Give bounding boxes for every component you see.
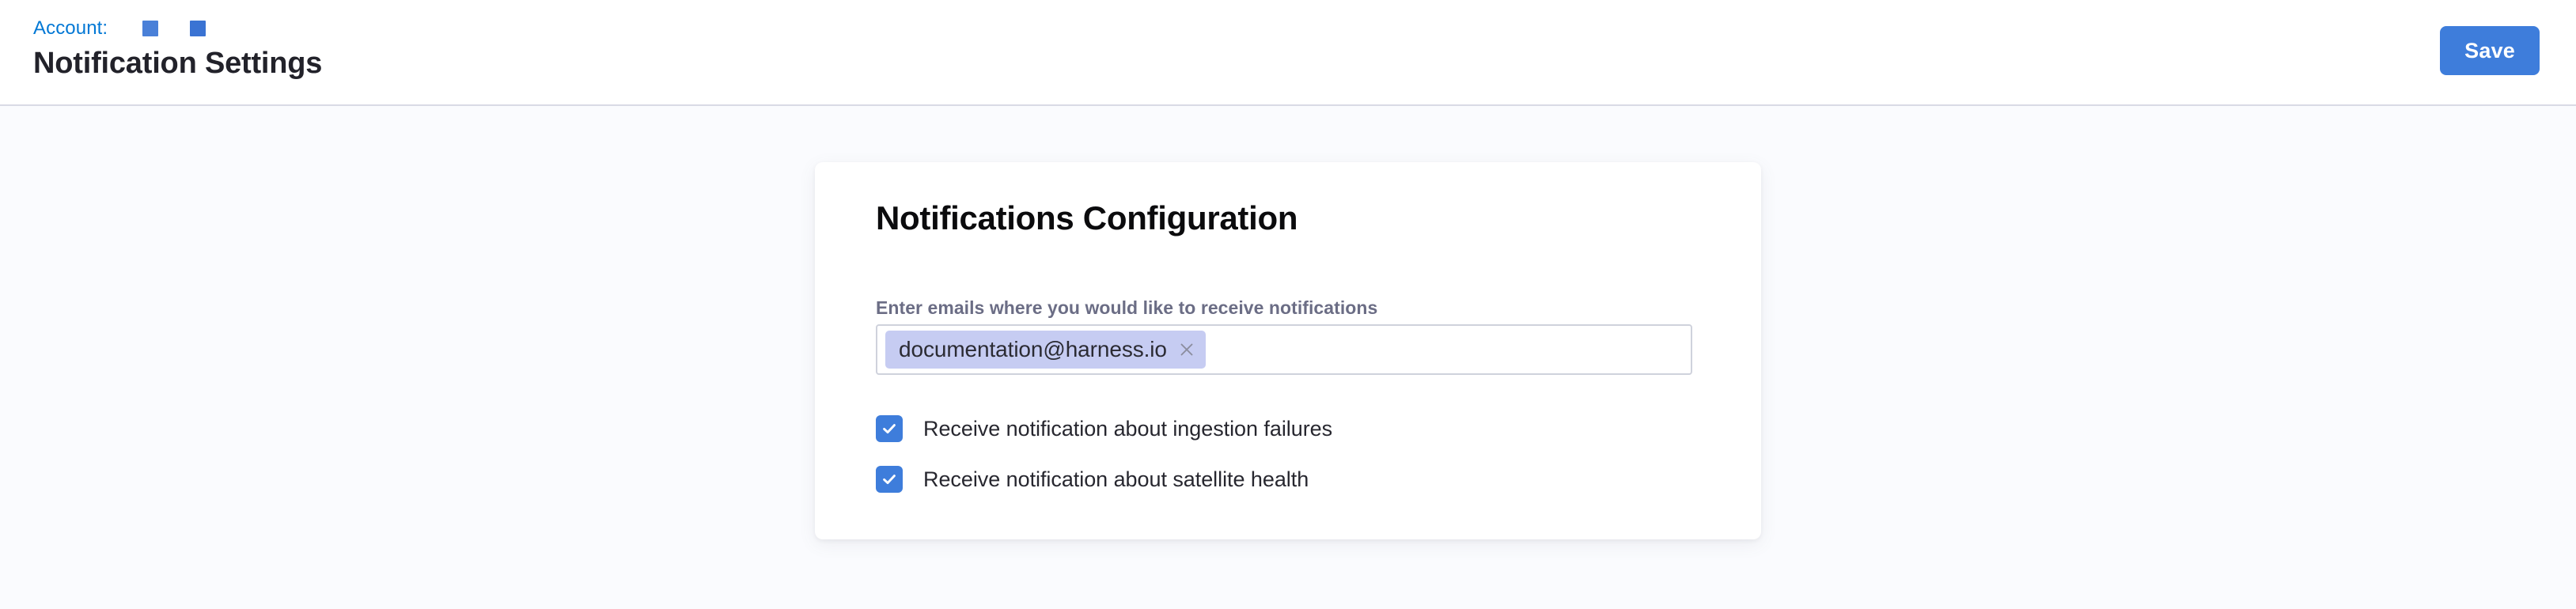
checkbox-row-satellite-health[interactable]: Receive notification about satellite hea… xyxy=(876,463,1332,496)
page-body: Notifications Configuration Enter emails… xyxy=(0,106,2576,609)
email-input[interactable]: documentation@harness.io xyxy=(876,324,1692,375)
breadcrumb-redacted-block-2 xyxy=(190,21,206,36)
close-icon[interactable] xyxy=(1178,341,1195,358)
card-title: Notifications Configuration xyxy=(876,198,1297,239)
page-title: Notification Settings xyxy=(33,45,322,81)
notification-options-list: Receive notification about ingestion fai… xyxy=(876,412,1332,513)
checkbox-label-ingestion-failures: Receive notification about ingestion fai… xyxy=(923,415,1332,442)
breadcrumb-account-link[interactable]: Account: xyxy=(33,17,108,40)
email-field-label: Enter emails where you would like to rec… xyxy=(876,297,1377,319)
notifications-configuration-card: Notifications Configuration Enter emails… xyxy=(815,162,1761,539)
checkbox-label-satellite-health: Receive notification about satellite hea… xyxy=(923,466,1309,493)
page-header: Account: Notification Settings Save xyxy=(0,0,2576,106)
save-button[interactable]: Save xyxy=(2440,26,2540,75)
email-chip: documentation@harness.io xyxy=(885,331,1206,369)
email-chip-label: documentation@harness.io xyxy=(899,331,1167,369)
checkmark-icon[interactable] xyxy=(876,466,903,493)
breadcrumb: Account: xyxy=(33,17,206,40)
breadcrumb-redacted-block-1 xyxy=(142,21,158,36)
checkbox-row-ingestion-failures[interactable]: Receive notification about ingestion fai… xyxy=(876,412,1332,445)
checkmark-icon[interactable] xyxy=(876,415,903,442)
